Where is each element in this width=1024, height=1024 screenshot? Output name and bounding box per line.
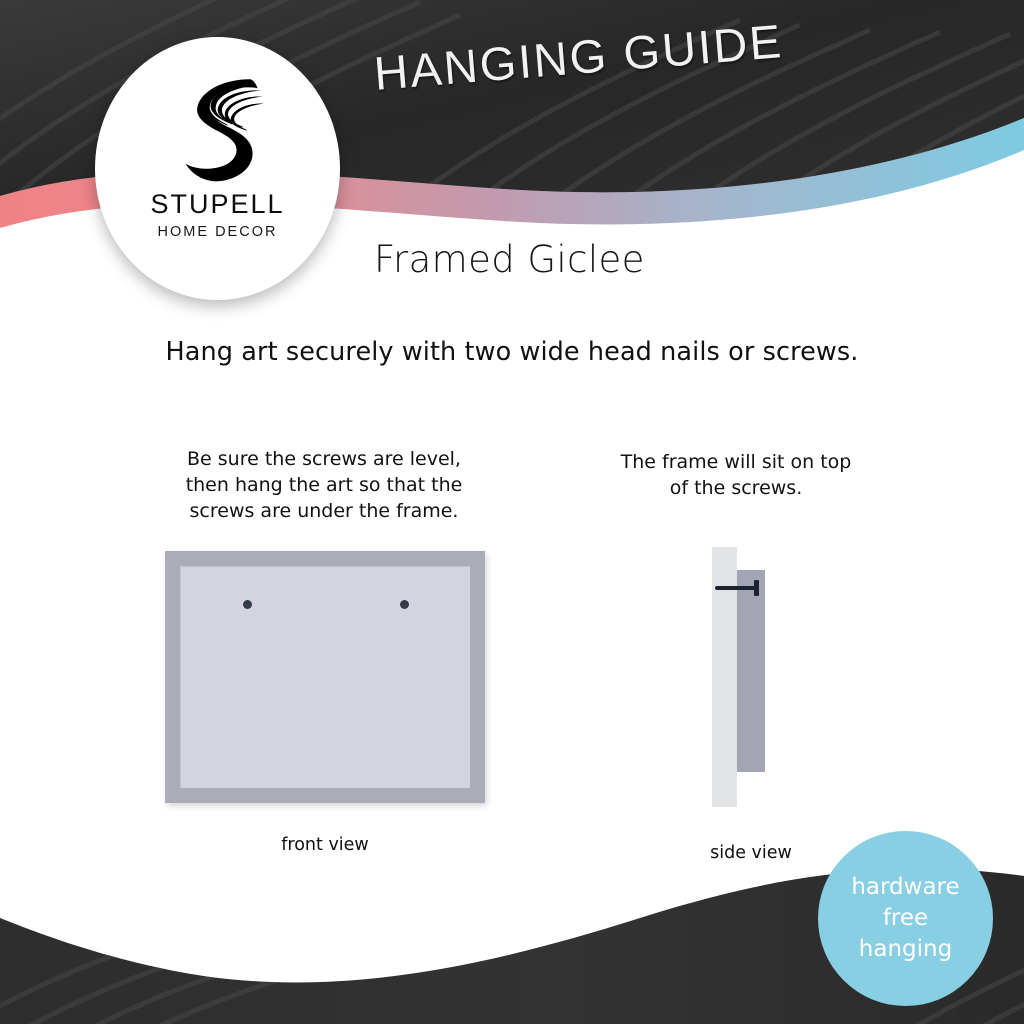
front-view-diagram [165,551,485,803]
badge-line-2: free [883,903,928,934]
side-view-frame [737,570,765,772]
main-instruction-text: Hang art securely with two wide head nai… [0,337,1024,367]
badge-line-3: hanging [859,934,952,965]
side-view-caption: The frame will sit on top of the screws. [594,449,878,501]
screw-dot-left [243,600,252,609]
logo-brand-text: STUPELL [150,191,284,218]
caption-line: then hang the art so that the [168,472,480,498]
front-view-art-panel [180,566,470,788]
product-type-label: Framed Giclee [374,238,645,281]
caption-line: of the screws. [594,475,878,501]
caption-line: Be sure the screws are level, [168,446,480,472]
stupell-logo-badge: STUPELL HOME DECOR [95,37,340,300]
nail-head-icon [754,580,759,596]
front-view-label: front view [165,835,485,855]
caption-line: The frame will sit on top [594,449,878,475]
screw-dot-right [400,600,409,609]
side-view-label: side view [676,843,826,863]
caption-line: screws are under the frame. [168,498,480,524]
side-view-diagram [706,547,796,812]
badge-line-1: hardware [851,872,959,903]
nail-icon [715,586,757,590]
page-title: HANGING GUIDE [372,4,895,101]
stupell-swoosh-logo-icon [157,63,279,185]
front-view-caption: Be sure the screws are level, then hang … [168,446,480,524]
hanging-guide-page: STUPELL HOME DECOR HANGING GUIDE Framed … [0,0,1024,1024]
hardware-free-hanging-badge: hardware free hanging [818,831,993,1006]
logo-tagline-text: HOME DECOR [158,225,278,240]
